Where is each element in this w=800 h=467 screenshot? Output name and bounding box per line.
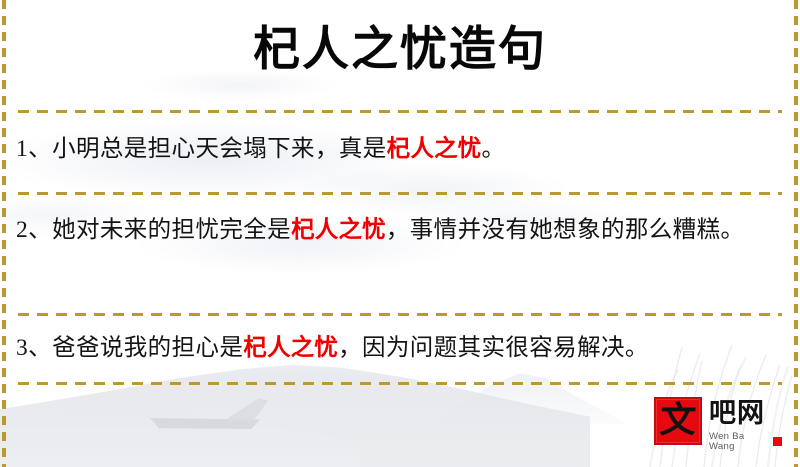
brand-name-en: Wen Ba Wang [709,432,768,451]
brand-subtitle-row: Wen Ba Wang [709,432,782,451]
divider-4 [18,382,782,385]
document-page: 杞人之忧造句 1、小明总是担心天会塌下来，真是杞人之忧。 2、她对未来的担忧完全… [0,0,800,467]
right-dashed-border [794,0,798,467]
sentence-number-3: 3、 [16,335,52,361]
sentence-number-2: 2、 [16,217,52,243]
brand-name-cn: 吧网 [709,400,782,427]
sentence-text-after-2: ，事情并没有她想象的那么糟糕。 [386,217,745,243]
example-sentence-3: 3、爸爸说我的担心是杞人之忧，因为问题其实很容易解决。 [16,330,786,367]
sentence-text-before-3: 爸爸说我的担心是 [52,335,243,361]
logo-red-square-icon [773,437,782,446]
left-dashed-border [2,0,6,467]
site-watermark-logo: 文 吧网 Wen Ba Wang [654,397,782,453]
example-sentence-2: 2、她对未来的担忧完全是杞人之忧，事情并没有她想象的那么糟糕。 [16,212,786,249]
page-title: 杞人之忧造句 [0,22,800,77]
seal-character: 文 [659,402,697,438]
sentence-text-after-3: ，因为问题其实很容易解决。 [338,335,649,361]
divider-3 [18,313,782,316]
keyword-highlight-1: 杞人之忧 [387,136,482,162]
sentence-text-before-2: 她对未来的担忧完全是 [52,217,291,243]
sentence-number-1: 1、 [16,136,52,162]
example-sentence-1: 1、小明总是担心天会塌下来，真是杞人之忧。 [16,131,786,168]
sentence-text-before-1: 小明总是担心天会塌下来，真是 [52,136,387,162]
sentence-text-after-1: 。 [481,136,505,162]
keyword-highlight-2: 杞人之忧 [291,217,386,243]
divider-1 [18,110,782,113]
seal-stamp-icon: 文 [654,397,702,445]
keyword-highlight-3: 杞人之忧 [243,335,338,361]
content-root: 杞人之忧造句 1、小明总是担心天会塌下来，真是杞人之忧。 2、她对未来的担忧完全… [0,0,800,467]
divider-2 [18,192,782,195]
logo-text-block: 吧网 Wen Ba Wang [709,397,782,451]
